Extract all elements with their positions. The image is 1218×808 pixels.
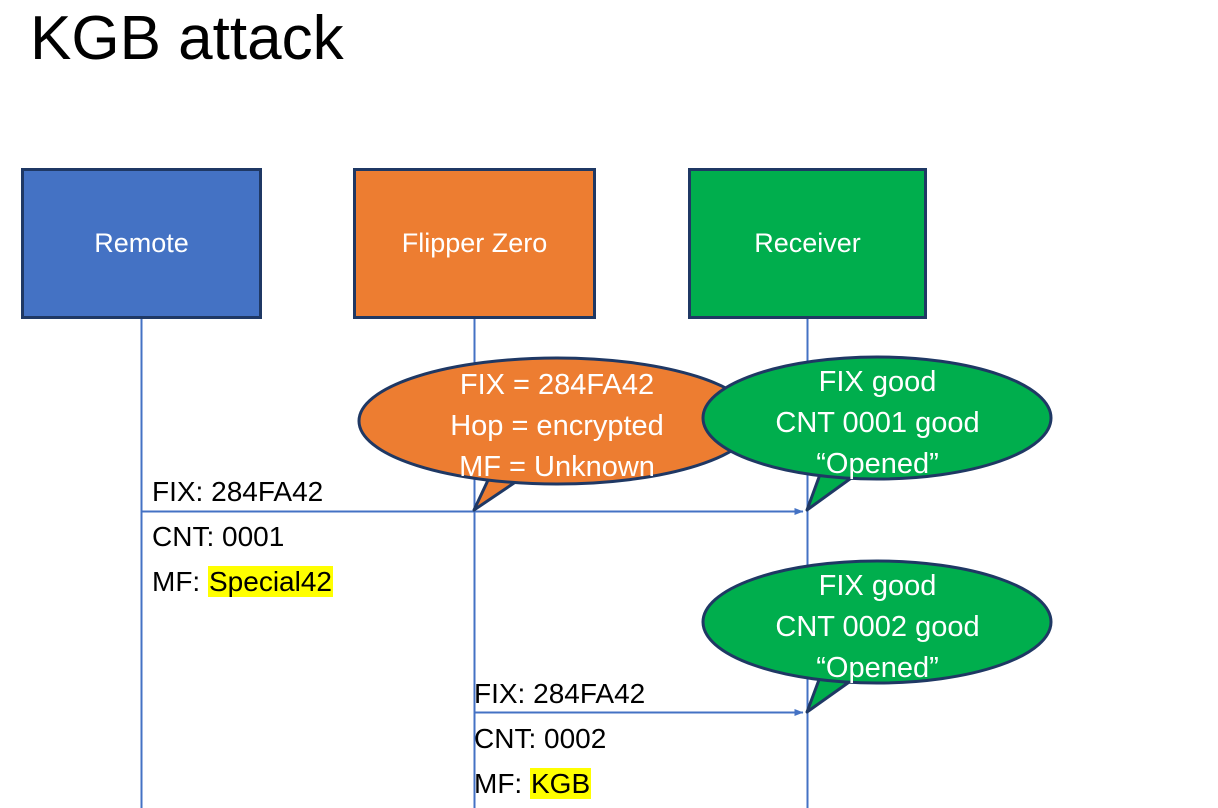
message-field-label: MF: bbox=[152, 566, 208, 597]
actor-label-remote: Remote bbox=[94, 228, 189, 259]
message-label-2: FIX: 284FA42 CNT: 0002 MF: KGB bbox=[474, 671, 645, 806]
message-field-value: 0002 bbox=[544, 723, 606, 754]
message-line: MF: Special42 bbox=[152, 559, 333, 604]
callout-line: “Opened” bbox=[705, 444, 1050, 485]
message-field-label: CNT: bbox=[152, 521, 222, 552]
message-field-value-highlighted: KGB bbox=[530, 768, 591, 799]
message-field-value: 284FA42 bbox=[533, 678, 645, 709]
callout-text-receiver-msg2: FIX good CNT 0002 good “Opened” bbox=[705, 566, 1050, 689]
callout-line: FIX = 284FA42 bbox=[360, 365, 754, 406]
actor-label-flipper: Flipper Zero bbox=[402, 228, 548, 259]
slide-canvas: KGB attack bbox=[0, 0, 1218, 808]
message-label-1: FIX: 284FA42 CNT: 0001 MF: Special42 bbox=[152, 469, 333, 604]
callout-text-receiver-msg1: FIX good CNT 0001 good “Opened” bbox=[705, 362, 1050, 485]
callout-line: FIX good bbox=[705, 566, 1050, 607]
callout-text-flipper-sniff: FIX = 284FA42 Hop = encrypted MF = Unkno… bbox=[360, 365, 754, 488]
message-field-label: FIX: bbox=[152, 476, 211, 507]
message-field-value: 0001 bbox=[222, 521, 284, 552]
message-line: CNT: 0001 bbox=[152, 514, 333, 559]
message-field-value: 284FA42 bbox=[211, 476, 323, 507]
message-line: CNT: 0002 bbox=[474, 716, 645, 761]
callout-line: FIX good bbox=[705, 362, 1050, 403]
callout-line: “Opened” bbox=[705, 648, 1050, 689]
actor-label-receiver: Receiver bbox=[754, 228, 861, 259]
callout-line: CNT 0002 good bbox=[705, 607, 1050, 648]
callout-line: Hop = encrypted bbox=[360, 406, 754, 447]
callout-line: CNT 0001 good bbox=[705, 403, 1050, 444]
message-field-label: FIX: bbox=[474, 678, 533, 709]
actor-box-remote[interactable]: Remote bbox=[21, 168, 262, 319]
actor-box-receiver[interactable]: Receiver bbox=[688, 168, 927, 319]
message-line: FIX: 284FA42 bbox=[152, 469, 333, 514]
message-line: MF: KGB bbox=[474, 761, 645, 806]
message-field-label: CNT: bbox=[474, 723, 544, 754]
callout-line: MF = Unknown bbox=[360, 447, 754, 488]
message-field-value-highlighted: Special42 bbox=[208, 566, 333, 597]
actor-box-flipper[interactable]: Flipper Zero bbox=[353, 168, 596, 319]
message-line: FIX: 284FA42 bbox=[474, 671, 645, 716]
message-field-label: MF: bbox=[474, 768, 530, 799]
